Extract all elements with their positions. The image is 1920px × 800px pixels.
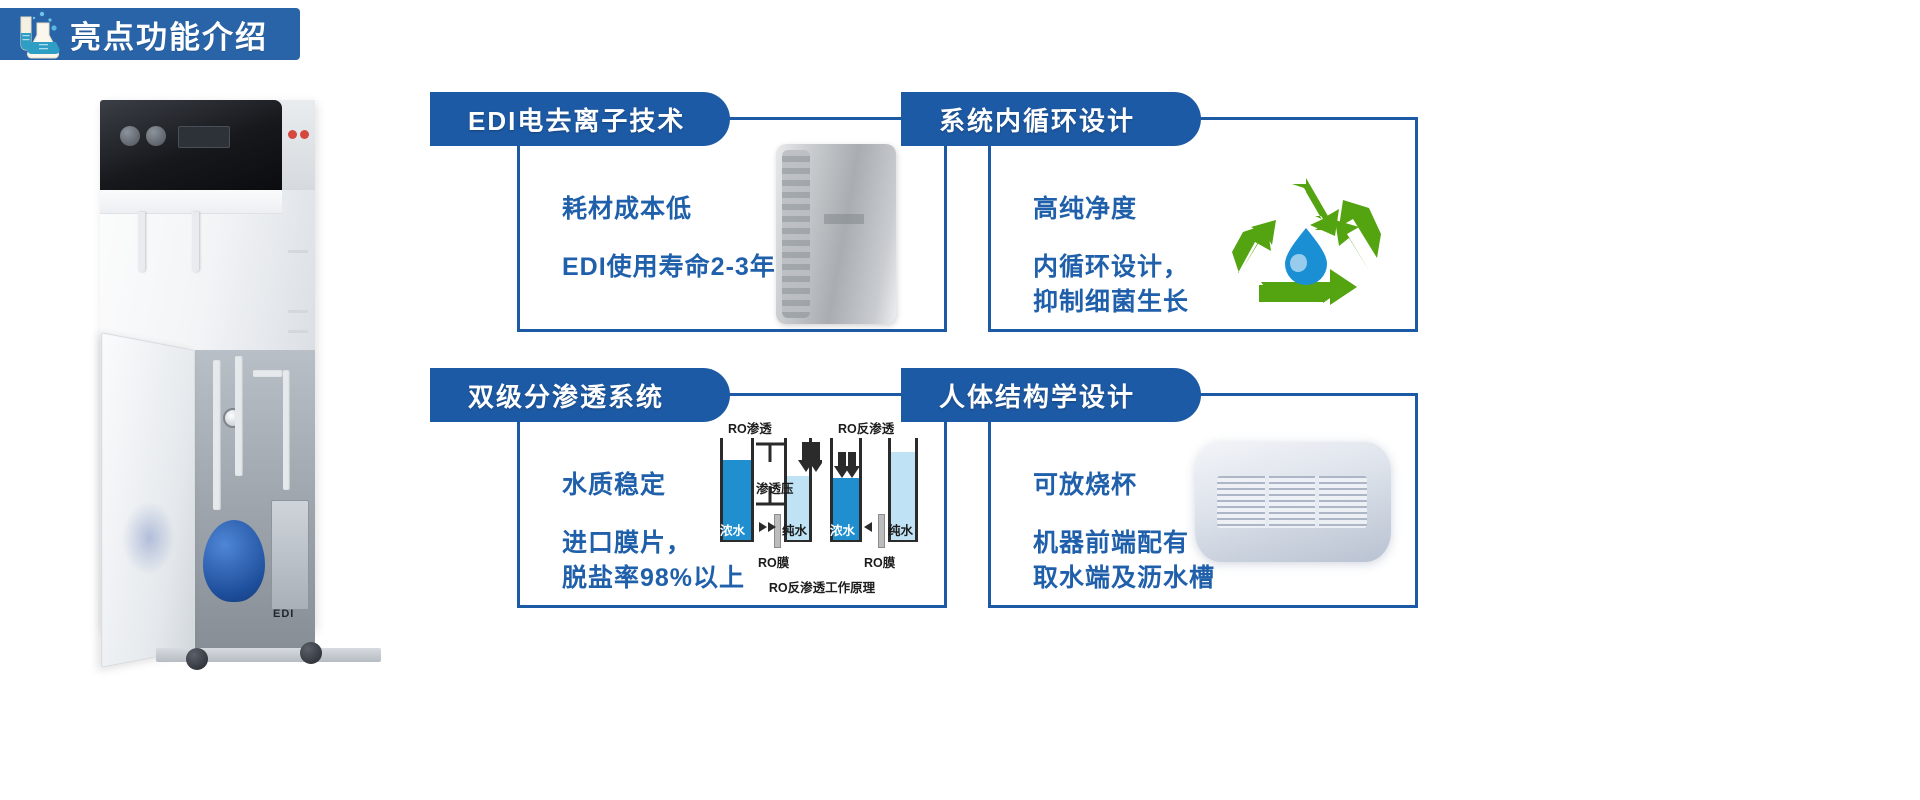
pipe (213, 360, 221, 510)
ro-membrane-label-right: RO膜 (864, 552, 895, 571)
label-pure-right: 纯水 (888, 520, 913, 539)
caster-wheel (186, 648, 208, 670)
card-title: 双级分渗透系统 (430, 368, 730, 422)
ro-membrane-label-left: RO膜 (758, 552, 789, 571)
label-concentrate-left: 浓水 (720, 520, 745, 539)
cabinet-door (101, 332, 195, 668)
pipe (283, 370, 290, 490)
header-banner: 亮点功能介绍 (0, 8, 300, 60)
ro-left-title: RO渗透 (728, 418, 772, 437)
vent-slot (288, 250, 308, 253)
status-led (300, 130, 309, 139)
card-visual-edi-module (723, 126, 938, 323)
card-visual-drip-tray (1194, 402, 1409, 599)
tray-divider (1315, 476, 1319, 528)
dispense-shelf (100, 190, 282, 214)
ro-diagram-caption: RO反渗透工作原理 (712, 577, 932, 596)
edi-module (271, 500, 309, 610)
pressure-label: 渗透压 (756, 478, 794, 497)
card-line-part: 内循环设计， (1033, 250, 1189, 286)
machine-side-column (282, 100, 315, 190)
control-knob (146, 126, 166, 146)
card-line: 内循环设计， 抑制细菌生长 (1033, 250, 1189, 321)
edi-module-label: EDI (273, 608, 294, 620)
label-concentrate-right: 浓水 (830, 520, 855, 539)
feature-highlights-page: 亮点功能介绍 (0, 0, 1920, 800)
drip-tray-photo (1195, 442, 1391, 562)
card-visual-ro-diagram: RO渗透 渗透压 浓水 纯水 (723, 402, 938, 599)
pressure-tank (203, 520, 265, 602)
recycle-icon (1231, 172, 1381, 308)
card-line: 高纯净度 (1033, 192, 1189, 228)
feature-card-ergonomic-design: 人体结构学设计 可放烧杯 机器前端配有 取水端及沥水槽 (988, 393, 1418, 608)
cabinet-interior: EDI (195, 350, 315, 650)
caster-wheel (300, 642, 322, 664)
status-led (288, 130, 297, 139)
card-body: 可放烧杯 机器前端配有 取水端及沥水槽 (1033, 468, 1215, 597)
ro-principle-diagram: RO渗透 渗透压 浓水 纯水 (712, 416, 932, 598)
vent-slot (288, 310, 308, 313)
card-line-part: 机器前端配有 (1033, 526, 1215, 562)
dispense-tap (192, 212, 199, 272)
control-knob (120, 126, 140, 146)
tray-slats (1217, 476, 1367, 528)
card-line-part: 抑制细菌生长 (1033, 285, 1189, 321)
machine-body: EDI (100, 100, 315, 630)
door-logo (122, 501, 175, 578)
card-visual-recycle (1194, 126, 1409, 323)
display-screen (178, 126, 230, 148)
control-panel (100, 100, 282, 190)
card-title: 人体结构学设计 (901, 368, 1201, 422)
card-line-part: 取水端及沥水槽 (1033, 561, 1215, 597)
pipe (253, 370, 283, 377)
label-pure-left: 纯水 (782, 520, 807, 539)
feature-card-dual-stage-ro: 双级分渗透系统 水质稳定 进口膜片， 脱盐率98%以上 RO渗透 (517, 393, 947, 608)
feature-card-internal-circulation: 系统内循环设计 高纯净度 内循环设计， 抑制细菌生长 (988, 117, 1418, 332)
dispense-tap (138, 212, 145, 272)
card-line: 机器前端配有 取水端及沥水槽 (1033, 526, 1215, 597)
card-title: 系统内循环设计 (901, 92, 1201, 146)
pipe (235, 356, 243, 476)
product-photo: EDI (40, 70, 400, 730)
flask-icon (12, 9, 64, 59)
edi-stack-photo (776, 144, 896, 324)
ro-right-title: RO反渗透 (838, 418, 894, 437)
card-body: 高纯净度 内循环设计， 抑制细菌生长 (1033, 192, 1189, 321)
card-line: 可放烧杯 (1033, 468, 1215, 504)
feature-card-edi-technology: EDI电去离子技术 耗材成本低 EDI使用寿命2-3年 (517, 117, 947, 332)
page-title: 亮点功能介绍 (70, 12, 268, 57)
edi-photo-tag (824, 214, 864, 224)
vent-slot (288, 330, 308, 333)
card-title: EDI电去离子技术 (430, 92, 730, 146)
tray-divider (1265, 476, 1269, 528)
